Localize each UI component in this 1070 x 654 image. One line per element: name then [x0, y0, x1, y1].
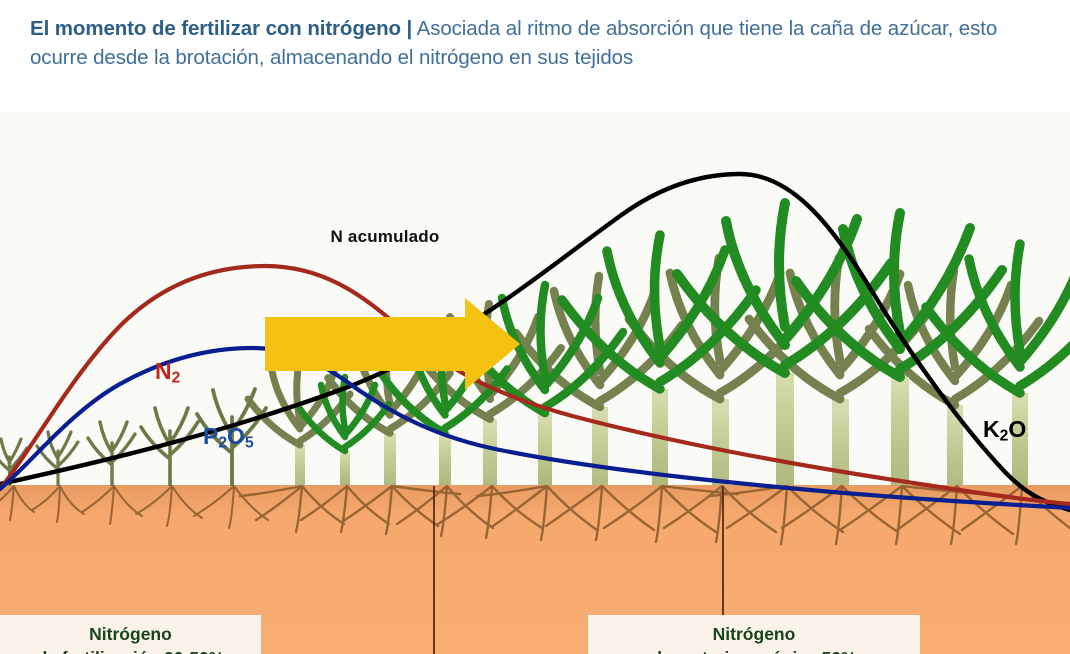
page-title-strong: El momento de fertilizar con nitrógeno |	[30, 17, 412, 40]
slide-canvas: El momento de fertilizar con nitrógeno |…	[0, 0, 1070, 654]
arrow-label-wrap: N acumulado	[265, 205, 523, 275]
page-title: El momento de fertilizar con nitrógeno |…	[30, 14, 1046, 72]
callout-organic-line2: de materia orgánica 50%	[588, 646, 920, 654]
illustration: N acumulado N2 P2O5 K2O Nitrógeno de fer…	[0, 112, 1070, 654]
curve-label-n2: N2	[155, 358, 180, 387]
callout-fertilizer-line1: Nitrógeno	[0, 622, 261, 646]
callout-organic-nitrogen: Nitrógeno de materia orgánica 50%	[588, 615, 920, 654]
curve-label-p2o5: P2O5	[203, 423, 254, 452]
curve-label-k2o: K2O	[983, 416, 1026, 445]
callout-fertilizer-nitrogen: Nitrógeno de fertilización 20-50%	[0, 615, 261, 654]
callout-organic-line1: Nitrógeno	[588, 622, 920, 646]
arrow-label: N acumulado	[305, 227, 465, 247]
callout-fertilizer-line2: de fertilización 20-50%	[0, 646, 261, 654]
